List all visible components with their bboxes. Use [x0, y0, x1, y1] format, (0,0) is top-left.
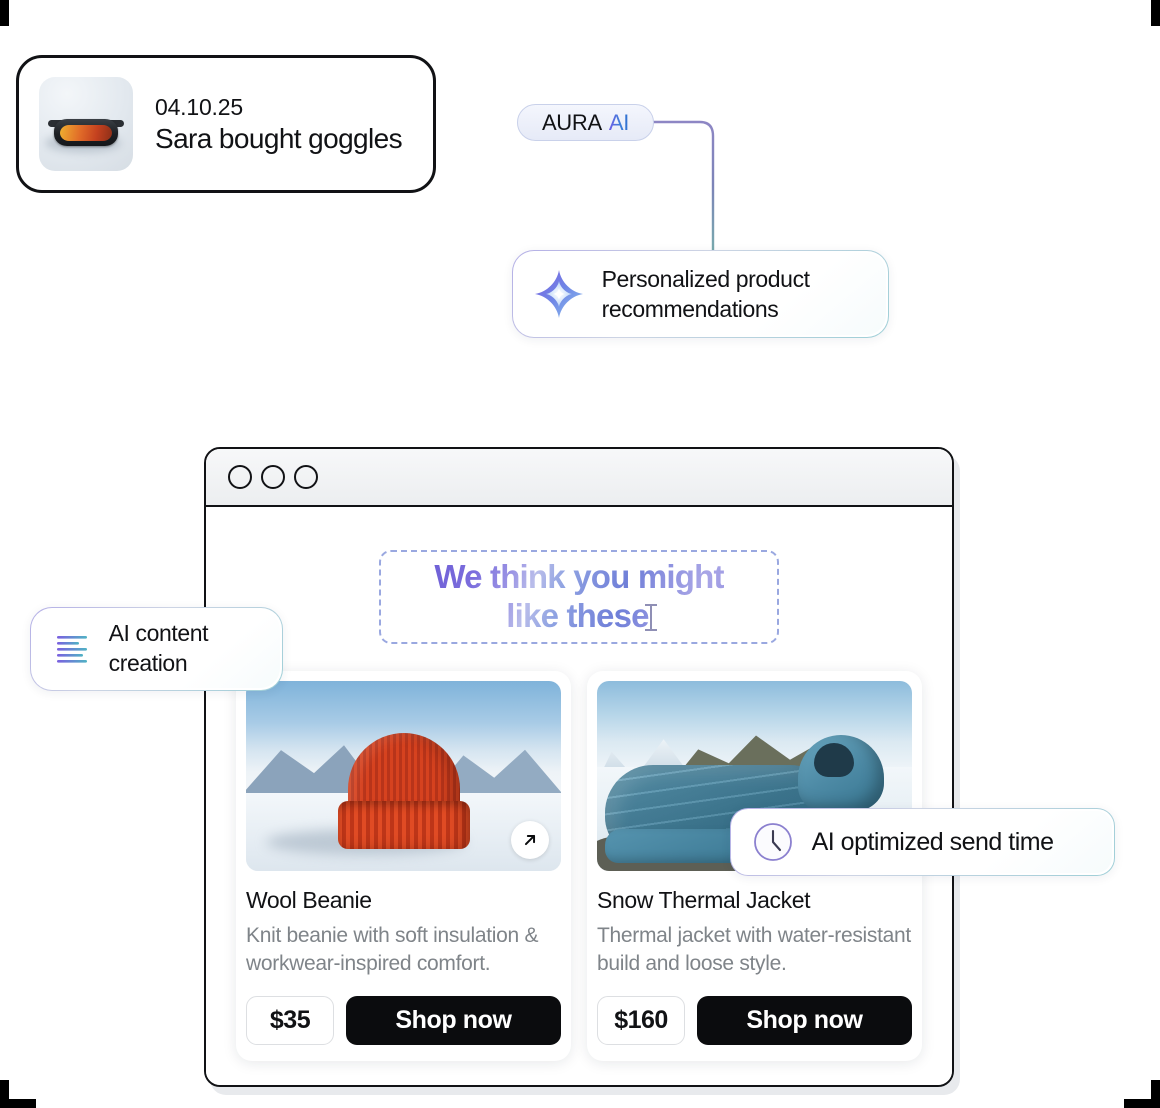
brand-word-aura: AURA: [542, 110, 602, 135]
product-description: Thermal jacket with water-resistant buil…: [597, 922, 912, 978]
brand-badge-text: AURAAI: [542, 110, 629, 136]
headline-editable-box[interactable]: We think you might like these: [379, 550, 779, 644]
crop-mark-top-left: [0, 0, 9, 26]
feature-card-recommendations[interactable]: Personalized product recommendations: [512, 250, 889, 338]
traffic-light-maximize[interactable]: [294, 465, 318, 489]
brand-badge-aura-ai[interactable]: AURAAI: [517, 104, 654, 141]
send-time-label: AI optimized send time: [812, 828, 1054, 857]
product-price: $160: [597, 996, 685, 1045]
infographic-canvas: 04.10.25 Sara bought goggles AURAAI: [0, 0, 1160, 1108]
event-date: 04.10.25: [155, 94, 402, 121]
event-card[interactable]: 04.10.25 Sara bought goggles: [16, 55, 436, 193]
crop-mark-top-right: [1151, 0, 1160, 26]
traffic-light-close[interactable]: [228, 465, 252, 489]
product-image-beanie: [246, 681, 561, 871]
diamond-sparkle-icon: [533, 268, 585, 320]
browser-window: We think you might like these: [204, 447, 954, 1087]
crop-mark-bottom-right-v: [1151, 1080, 1160, 1108]
traffic-light-minimize[interactable]: [261, 465, 285, 489]
event-text-block: 04.10.25 Sara bought goggles: [155, 94, 402, 155]
recommendations-line-2: recommendations: [602, 294, 810, 324]
brand-word-ai: AI: [609, 110, 629, 135]
content-creation-line-1: AI content: [109, 619, 209, 649]
product-name: Wool Beanie: [246, 887, 561, 914]
content-creation-line-2: creation: [109, 649, 209, 679]
recommendations-line-1: Personalized product: [602, 264, 810, 294]
product-actions: $160 Shop now: [597, 996, 912, 1045]
product-actions: $35 Shop now: [246, 996, 561, 1045]
arrow-up-right-icon[interactable]: [511, 821, 549, 859]
shop-now-button[interactable]: Shop now: [346, 996, 561, 1045]
feature-card-content-creation[interactable]: AI content creation: [30, 607, 283, 691]
text-cursor-icon: [650, 604, 652, 631]
headline-line-1: We think you might: [434, 558, 723, 595]
clock-icon: [751, 820, 795, 864]
product-card-wool-beanie[interactable]: Wool Beanie Knit beanie with soft insula…: [236, 671, 571, 1061]
feature-card-send-time[interactable]: AI optimized send time: [730, 808, 1115, 876]
ski-goggles-photo: [39, 77, 133, 171]
shop-now-button[interactable]: Shop now: [697, 996, 912, 1045]
content-creation-label: AI content creation: [109, 619, 209, 679]
headline-line-2: like these: [506, 597, 648, 634]
product-name: Snow Thermal Jacket: [597, 887, 912, 914]
browser-title-bar: [206, 449, 952, 507]
product-description: Knit beanie with soft insulation & workw…: [246, 922, 561, 978]
recommendations-label: Personalized product recommendations: [602, 264, 810, 325]
headline-text: We think you might like these: [434, 558, 723, 636]
product-price: $35: [246, 996, 334, 1045]
event-title: Sara bought goggles: [155, 123, 402, 155]
crop-mark-bottom-left-v: [0, 1080, 9, 1108]
text-lines-icon: [53, 629, 93, 669]
